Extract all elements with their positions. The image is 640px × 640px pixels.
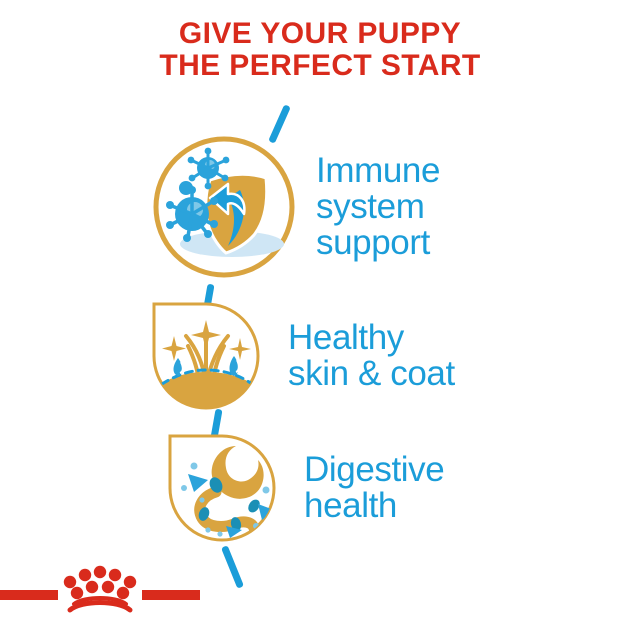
skin-coat-follicle-icon: [148, 298, 266, 413]
benefit-label-digestive: Digestive health: [304, 452, 444, 524]
benefit-label-digestive-line-2: health: [304, 488, 444, 524]
benefit-label-skin-coat-line-1: Healthy: [288, 320, 455, 356]
benefit-label-immune-line-3: support: [316, 225, 440, 261]
royal-canin-crown-logo: [0, 560, 200, 618]
benefit-label-skin-coat-line-2: skin & coat: [288, 356, 455, 392]
poster-canvas: GIVE YOUR PUPPY THE PERFECT START: [0, 0, 640, 640]
benefit-label-immune: Immune system support: [316, 153, 440, 261]
benefits-list: Immune system support: [0, 118, 640, 568]
benefit-item-skin-coat: Healthy skin & coat: [0, 298, 640, 413]
digestive-stomach-icon: [164, 430, 282, 545]
benefit-item-digestive: Digestive health: [0, 430, 640, 545]
benefit-label-immune-line-2: system: [316, 189, 440, 225]
benefit-label-digestive-line-1: Digestive: [304, 452, 444, 488]
benefit-label-immune-line-1: Immune: [316, 153, 440, 189]
benefit-label-skin-coat: Healthy skin & coat: [288, 320, 455, 392]
immune-shield-icon: [148, 132, 300, 282]
page-title-line-1: GIVE YOUR PUPPY: [0, 18, 640, 50]
page-title: GIVE YOUR PUPPY THE PERFECT START: [0, 18, 640, 82]
benefit-item-immune: Immune system support: [0, 132, 640, 282]
page-title-line-2: THE PERFECT START: [0, 50, 640, 82]
